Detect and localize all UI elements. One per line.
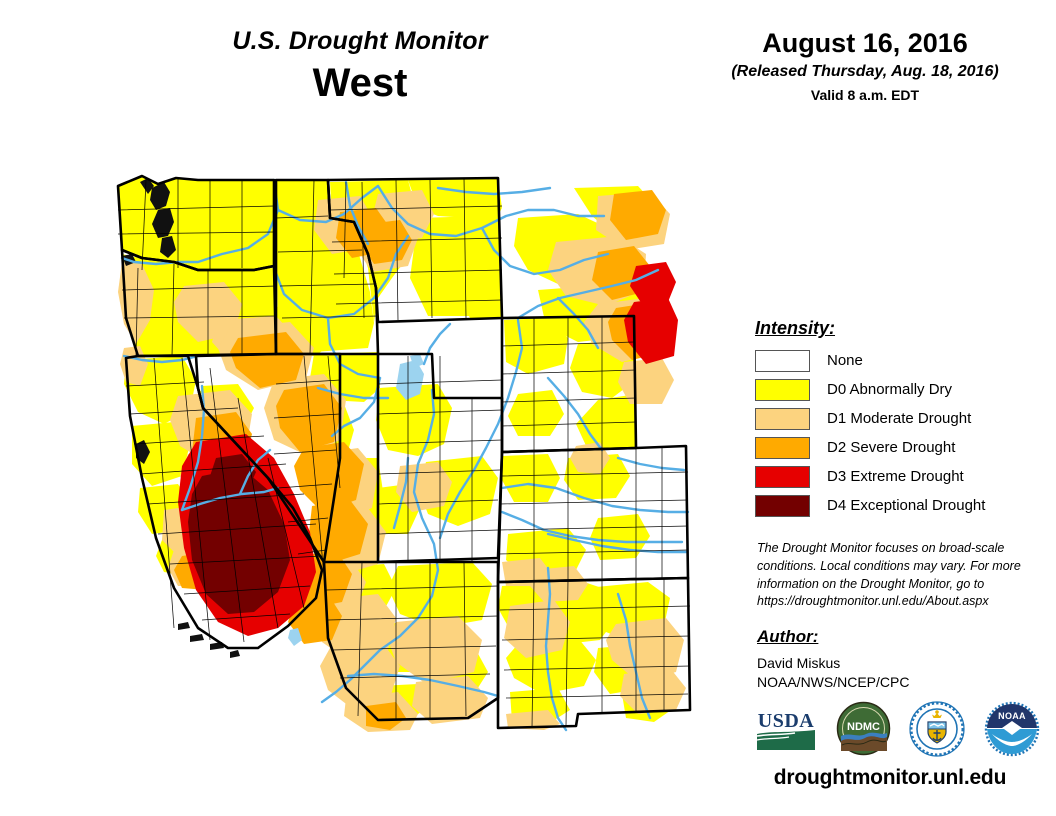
- legend-item-none[interactable]: None: [755, 348, 1030, 373]
- author-affiliation: NOAA/NWS/NCEP/CPC: [757, 673, 1027, 692]
- legend-item-d2[interactable]: D2 Severe Drought: [755, 435, 1030, 460]
- usda-logo[interactable]: USDA: [755, 704, 817, 759]
- legend-label-d4: D4 Exceptional Drought: [827, 497, 985, 514]
- commerce-seal-logo[interactable]: [909, 701, 965, 762]
- page-title: U.S. Drought Monitor: [150, 28, 570, 56]
- map-svg: [78, 158, 718, 798]
- author-block: Author: David Miskus NOAA/NWS/NCEP/CPC: [757, 627, 1027, 692]
- svg-text:NDMC: NDMC: [847, 721, 880, 733]
- legend-swatch-d2: [755, 437, 810, 459]
- legend-label-none: None: [827, 352, 863, 369]
- legend-label-d2: D2 Severe Drought: [827, 439, 955, 456]
- legend-item-d1[interactable]: D1 Moderate Drought: [755, 406, 1030, 431]
- legend-item-d3[interactable]: D3 Extreme Drought: [755, 464, 1030, 489]
- legend-item-d4[interactable]: D4 Exceptional Drought: [755, 493, 1030, 518]
- legend-label-d0: D0 Abnormally Dry: [827, 381, 952, 398]
- legend-item-d0[interactable]: D0 Abnormally Dry: [755, 377, 1030, 402]
- legend-label-d1: D1 Moderate Drought: [827, 410, 971, 427]
- map-layers: [118, 176, 690, 732]
- ndmc-logo[interactable]: NDMC: [836, 701, 891, 761]
- noaa-logo[interactable]: NOAA: [984, 701, 1040, 762]
- legend-swatch-d4: [755, 495, 810, 517]
- legend-label-d3: D3 Extreme Drought: [827, 468, 964, 485]
- legend-title: Intensity:: [755, 318, 1030, 339]
- svg-text:NOAA: NOAA: [998, 711, 1026, 721]
- legend: Intensity: None D0 Abnormally Dry D1 Mod…: [755, 318, 1030, 522]
- legend-swatch-none: [755, 350, 810, 372]
- valid-date: August 16, 2016: [690, 28, 1040, 59]
- legend-swatch-d0: [755, 379, 810, 401]
- legend-swatch-d3: [755, 466, 810, 488]
- map-title-block: U.S. Drought Monitor West: [150, 28, 570, 107]
- disclaimer-text: The Drought Monitor focuses on broad-sca…: [757, 540, 1022, 611]
- drought-map[interactable]: [78, 158, 718, 798]
- date-block: August 16, 2016 (Released Thursday, Aug.…: [690, 28, 1040, 104]
- svg-text:USDA: USDA: [758, 710, 815, 732]
- agency-logos: USDA NDMC: [755, 700, 1040, 762]
- valid-time: Valid 8 a.m. EDT: [690, 86, 1040, 104]
- legend-swatch-d1: [755, 408, 810, 430]
- released-date: (Released Thursday, Aug. 18, 2016): [690, 62, 1040, 83]
- site-url[interactable]: droughtmonitor.unl.edu: [740, 766, 1040, 790]
- author-heading: Author:: [757, 627, 1027, 647]
- author-name: David Miskus: [757, 654, 1027, 673]
- region-title: West: [150, 60, 570, 107]
